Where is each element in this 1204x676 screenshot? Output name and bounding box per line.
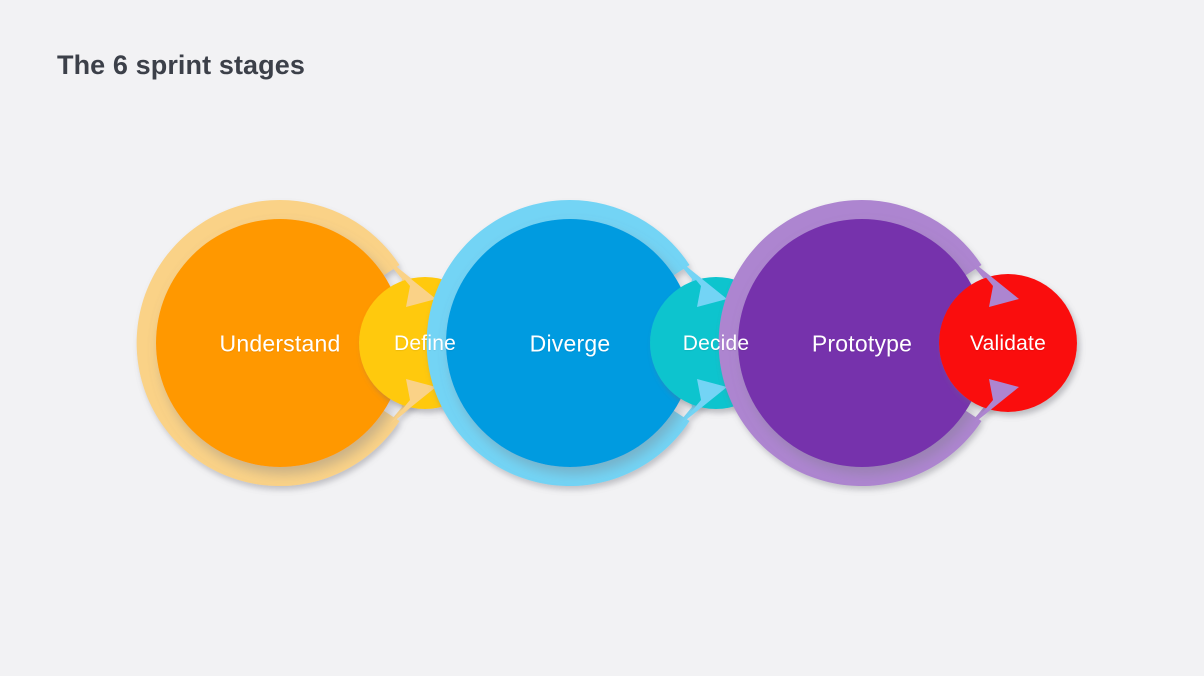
sprint-stages-diagram: Understand Define Diverge Decide Prototy… (0, 0, 1204, 676)
slide-canvas: The 6 sprint stages (0, 0, 1204, 676)
diagram-canvas (0, 0, 1204, 676)
